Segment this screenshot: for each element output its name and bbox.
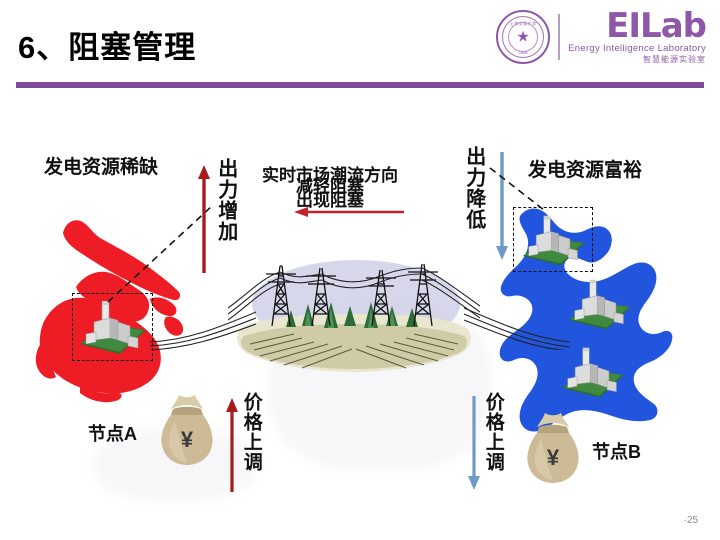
price-arrow-right — [466, 394, 482, 492]
logo-subtitle-en: Energy Intelligence Laboratory — [568, 44, 706, 54]
power-plant-icon-right-2 — [563, 275, 637, 335]
transmission-grid-illustration — [228, 252, 480, 390]
power-plant-icon-right-3 — [556, 343, 630, 403]
logo-text-block: EILab Energy Intelligence Laboratory 智慧能… — [568, 10, 706, 64]
left-price-label: 价格上调 — [241, 392, 261, 498]
right-transmission-lines — [462, 290, 572, 350]
lab-logo: 上海交通大学 ★ 1896 EILab Energy Intelligence … — [496, 10, 706, 64]
page-title: 6、阻塞管理 — [18, 22, 196, 67]
left-transmission-lines — [148, 290, 258, 350]
flow-direction-arrow — [292, 205, 406, 219]
node-a-label: 节点A — [88, 420, 137, 446]
seal-ring-top-text: 上海交通大学 — [510, 21, 537, 27]
right-callout-leader — [486, 162, 552, 216]
price-up-arrow-left — [224, 396, 240, 494]
svg-text:¥: ¥ — [547, 445, 560, 470]
output-increase-arrow — [196, 163, 212, 275]
logo-subtitle-cn: 智慧能源实验室 — [643, 56, 706, 64]
right-price-label: 价格上调 — [483, 392, 503, 498]
money-bag-icon-right: ¥ — [523, 409, 583, 485]
title-underline-rule — [16, 82, 704, 88]
money-bag-icon-left: ¥ — [157, 391, 217, 467]
node-b-label: 节点B — [592, 438, 641, 464]
page-number: ·25 — [684, 515, 698, 526]
slide-canvas: 6、阻塞管理 上海交通大学 ★ 1896 EILab Energy Intell… — [0, 0, 720, 540]
power-plant-icon-right-1 — [517, 211, 591, 271]
seal-ring-bottom-text: 1896 — [519, 50, 528, 55]
right-output-label: 出力降低 — [463, 146, 484, 258]
logo-wordmark: EILab — [606, 10, 706, 42]
university-seal-icon: 上海交通大学 ★ 1896 — [496, 10, 550, 64]
star-icon: ★ — [516, 30, 529, 45]
left-region-label: 发电资源稀缺 — [44, 152, 158, 179]
logo-divider — [558, 14, 560, 60]
svg-text:¥: ¥ — [181, 427, 194, 452]
